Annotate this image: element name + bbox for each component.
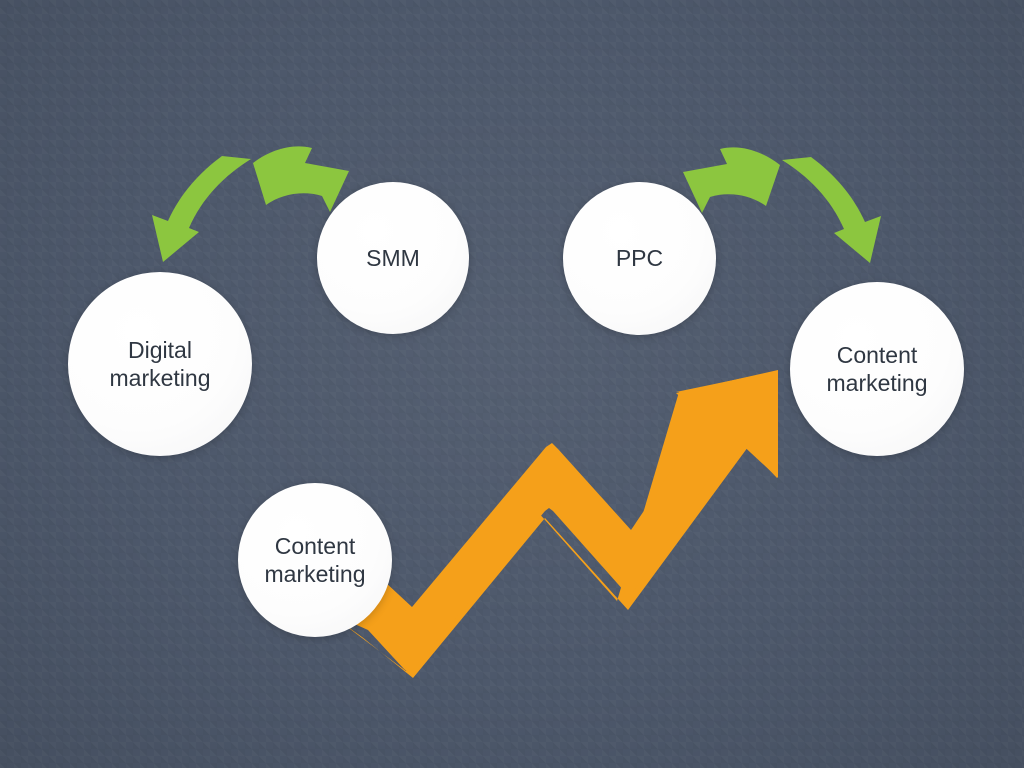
node-content-marketing-right[interactable]: Content marketing [790,282,964,456]
node-digital-marketing[interactable]: Digital marketing [68,272,252,456]
node-smm-label: SMM [358,244,428,272]
node-content-marketing-bottom-label: Content marketing [257,532,374,588]
nodes-group: Digital marketing SMM PPC Content market… [0,0,1024,768]
node-ppc[interactable]: PPC [563,182,716,335]
node-ppc-label: PPC [608,244,671,272]
diagram-canvas: Digital marketing SMM PPC Content market… [0,0,1024,768]
node-smm[interactable]: SMM [317,182,469,334]
node-digital-marketing-label: Digital marketing [102,336,219,392]
node-content-marketing-bottom[interactable]: Content marketing [238,483,392,637]
node-content-marketing-right-label: Content marketing [819,341,936,397]
